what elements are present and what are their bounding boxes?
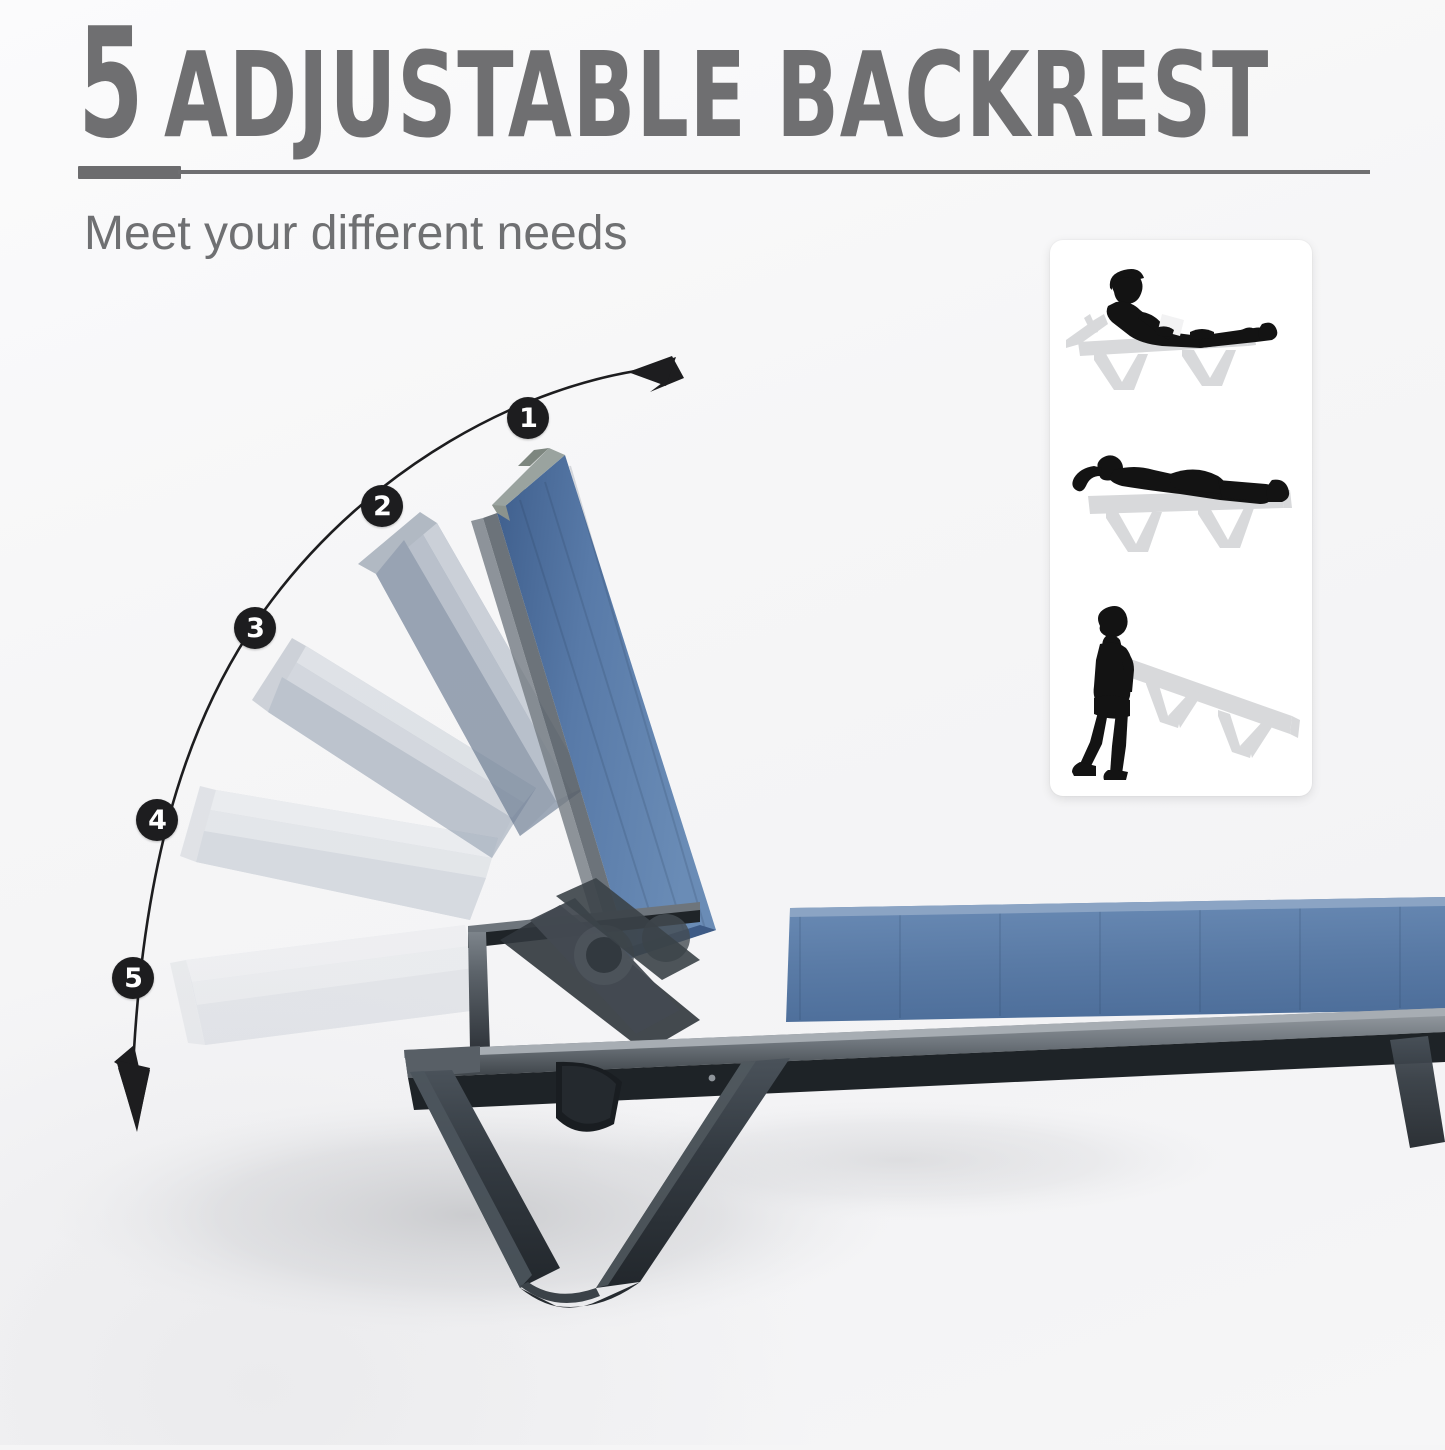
page-title: 5 ADJUSTABLE BACKREST <box>78 8 1445 160</box>
person-walking-pulling-lounger-icon <box>1050 600 1312 790</box>
divider-accent-bar <box>78 166 181 179</box>
divider-rule <box>178 170 1370 174</box>
page-title-text: ADJUSTABLE BACKREST <box>164 36 1269 154</box>
silhouette-reader <box>1107 269 1278 348</box>
silhouette-walker <box>1072 606 1134 780</box>
page-subtitle: Meet your different needs <box>84 206 627 261</box>
person-lying-flat-icon <box>1050 432 1312 602</box>
usage-scenarios-card <box>1050 240 1312 796</box>
page-title-number: 5 <box>78 8 142 160</box>
person-reading-reclined-icon <box>1050 262 1312 432</box>
floor-shadow <box>50 1095 1230 1335</box>
backrest-position-5 <box>170 925 478 1045</box>
infographic-canvas: 1 2 3 4 5 5 ADJUSTABLE BACKREST Meet you… <box>0 0 1445 1445</box>
ghost-lounger-tilted <box>1120 656 1300 758</box>
